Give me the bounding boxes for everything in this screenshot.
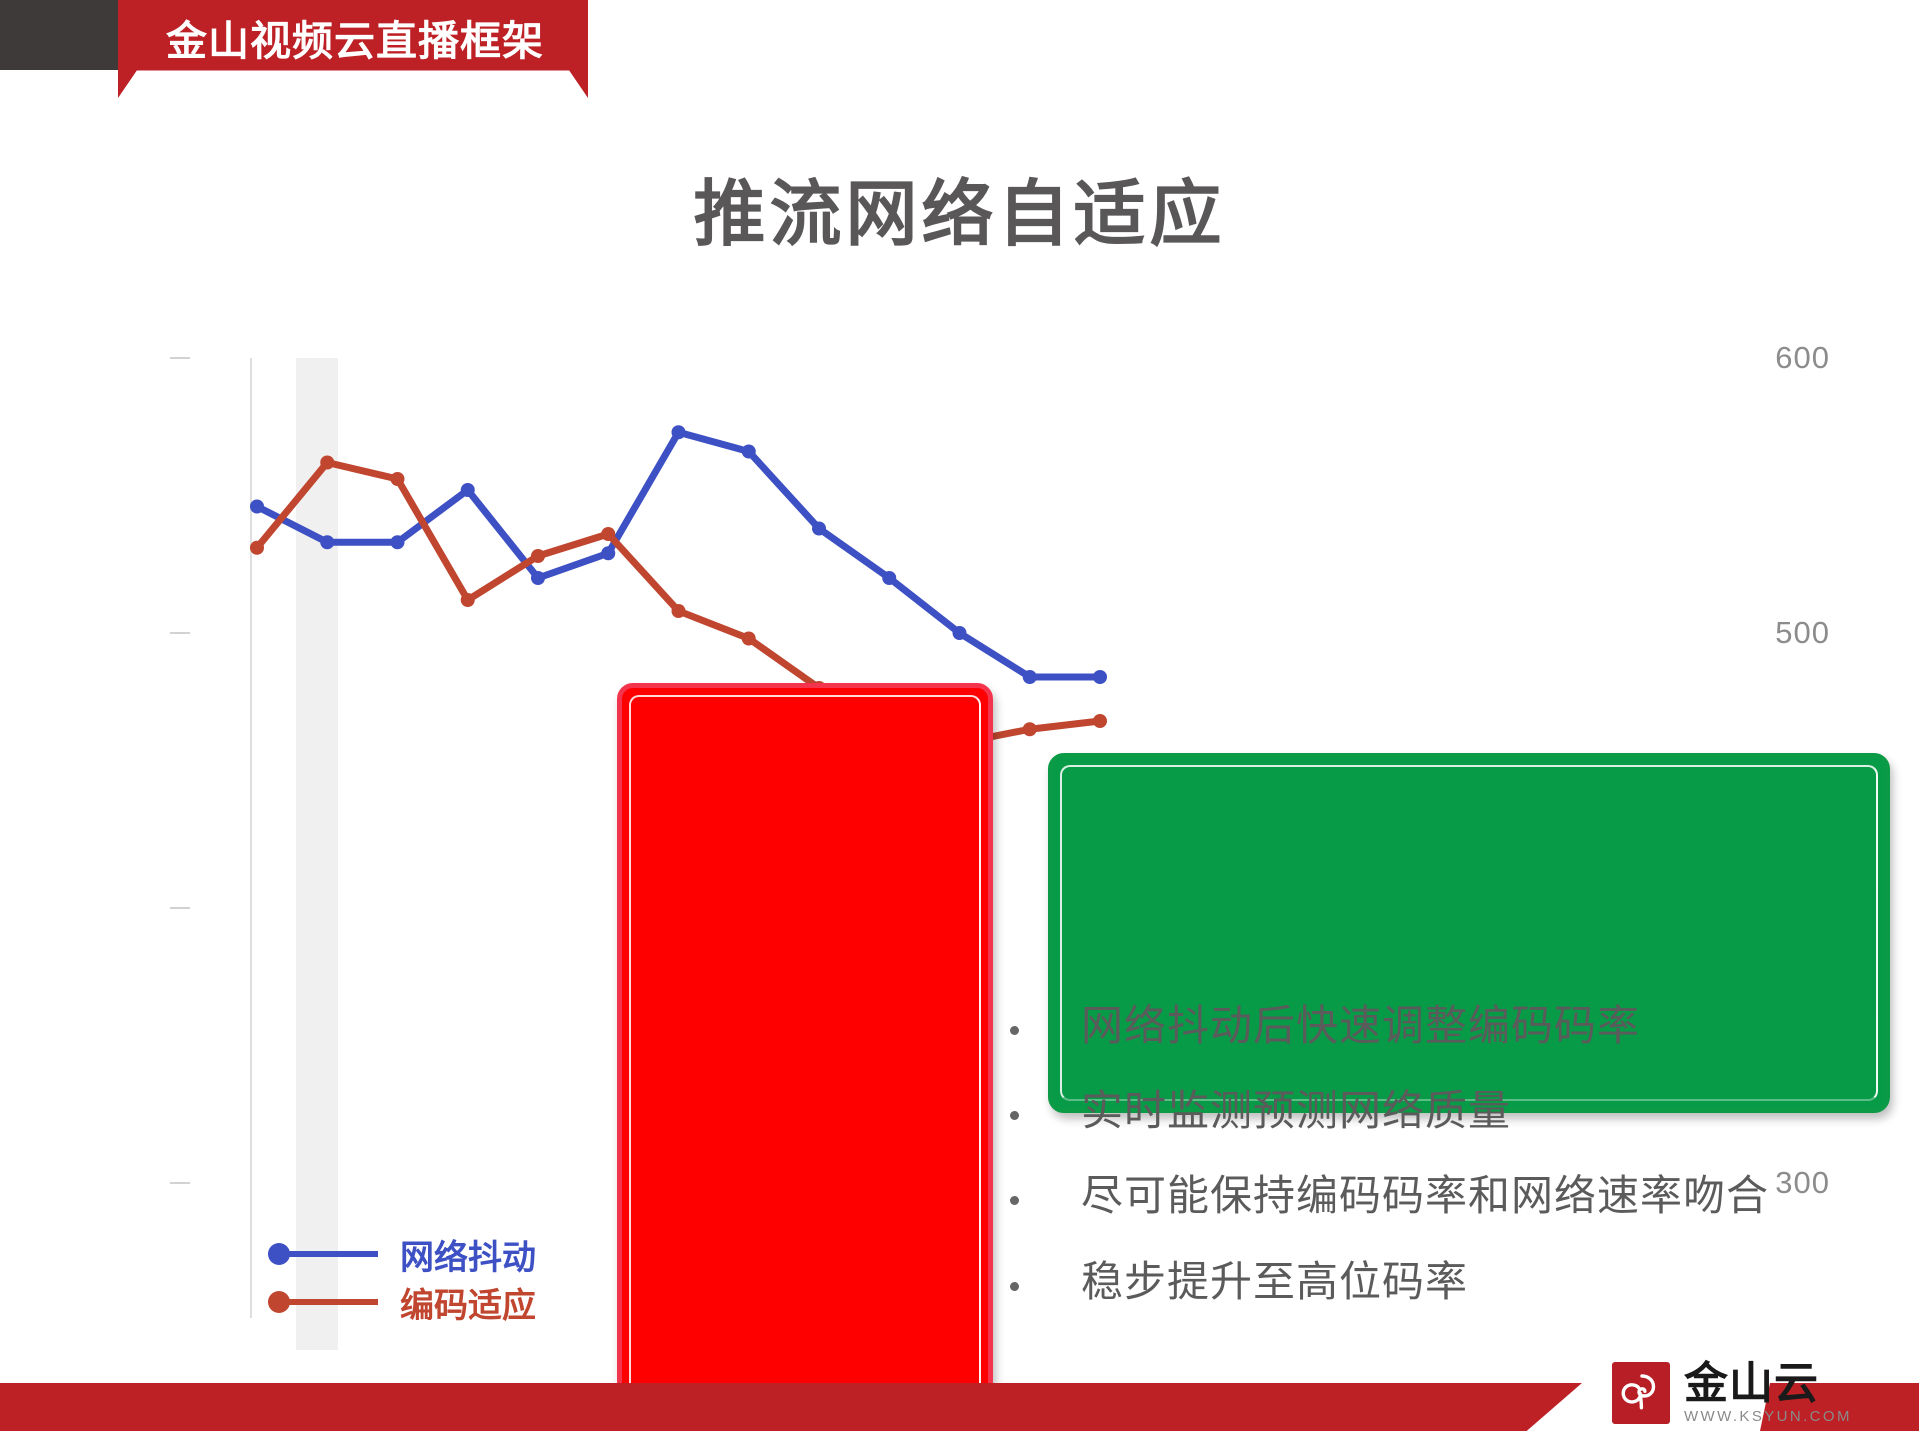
header-ribbon-title: 金山视频云直播框架: [140, 6, 570, 68]
callout-box-red[interactable]: [617, 683, 993, 1408]
legend-line-icon-red: [286, 1299, 378, 1305]
series-network-jitter: [250, 425, 1107, 684]
footer: 金山云 WWW.KSYUN.COM: [0, 1350, 1919, 1439]
bullet-text: 稳步提升至高位码率: [1081, 1256, 1468, 1307]
brand-logo: 金山云 WWW.KSYUN.COM: [1612, 1362, 1852, 1425]
bullet-dot-icon: [1010, 1111, 1019, 1120]
legend-label-network-jitter: 网络抖动: [400, 1230, 536, 1279]
bullet-dot-icon: [1010, 1282, 1019, 1291]
footer-bar-left: [0, 1383, 1582, 1431]
cloud-icon: [1612, 1362, 1670, 1424]
list-item: 尽可能保持编码码率和网络速率吻合: [1010, 1170, 1910, 1221]
callout-red-inner-highlight: [629, 695, 981, 1396]
bullet-text: 实时监测预测网络质量: [1081, 1085, 1511, 1136]
legend-item-encoder-adaptive[interactable]: 编码适应: [268, 1278, 536, 1326]
brand-url: WWW.KSYUN.COM: [1684, 1408, 1852, 1425]
brand-name: 金山云: [1684, 1362, 1852, 1405]
chart-legend: 网络抖动 编码适应: [268, 1230, 536, 1326]
legend-label-encoder-adaptive: 编码适应: [400, 1278, 536, 1327]
page-title: 推流网络自适应: [0, 155, 1919, 260]
bullet-dot-icon: [1010, 1026, 1019, 1035]
bullet-dot-icon: [1010, 1196, 1019, 1205]
bullet-list: 网络抖动后快速调整编码码率 实时监测预测网络质量 尽可能保持编码码率和网络速率吻…: [1010, 1000, 1910, 1341]
legend-line-icon-blue: [286, 1251, 378, 1257]
header-band: 金山视频云直播框架: [0, 0, 560, 70]
bullet-text: 网络抖动后快速调整编码码率: [1081, 1000, 1640, 1051]
list-item: 稳步提升至高位码率: [1010, 1256, 1910, 1307]
bullet-text: 尽可能保持编码码率和网络速率吻合: [1081, 1170, 1769, 1221]
brand-text-block: 金山云 WWW.KSYUN.COM: [1684, 1362, 1852, 1425]
list-item: 网络抖动后快速调整编码码率: [1010, 1000, 1910, 1051]
legend-item-network-jitter[interactable]: 网络抖动: [268, 1230, 536, 1278]
list-item: 实时监测预测网络质量: [1010, 1085, 1910, 1136]
